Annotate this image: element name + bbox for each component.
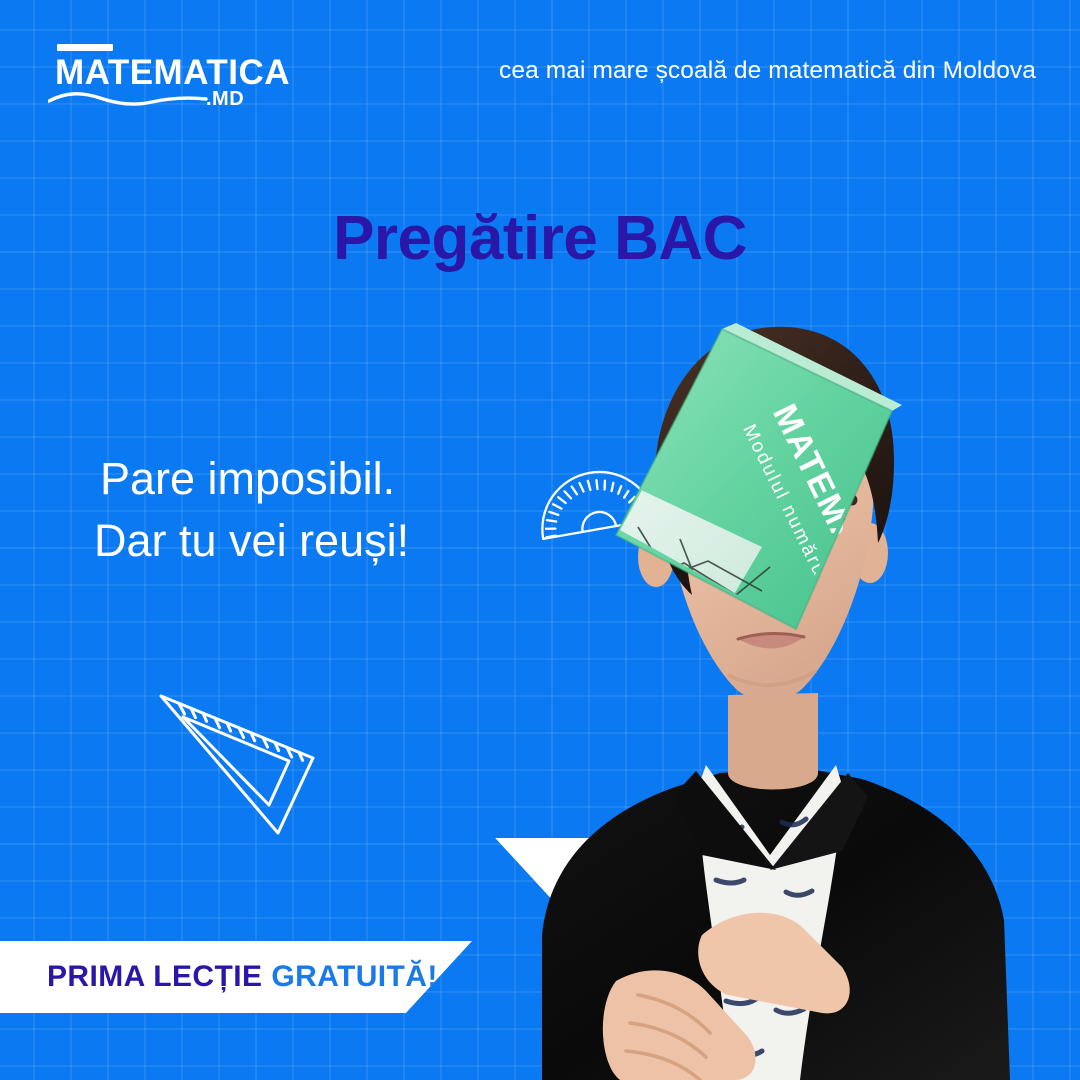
page-title: Pregătire BAC — [0, 203, 1080, 274]
slogan-line-2: Dar tu vei reuși! — [94, 510, 409, 572]
promo-poster: MATEMATICA .MD cea mai mare școală de ma… — [0, 0, 1080, 1080]
cta-banner-text: PRIMA LECȚIEGRATUITĂ! — [47, 960, 438, 994]
cta-banner[interactable]: PRIMA LECȚIEGRATUITĂ! — [0, 941, 472, 1013]
brand-logo[interactable]: MATEMATICA .MD — [48, 44, 258, 116]
logo-tld: .MD — [206, 88, 244, 111]
brand-tagline: cea mai mare școală de matematică din Mo… — [499, 57, 1036, 85]
cta-text-primary: PRIMA LECȚIE — [47, 960, 262, 993]
teacher-portrait: MATEMATICĂ Modulul numărului — [470, 295, 1080, 1080]
cta-text-accent: GRATUITĂ! — [271, 960, 437, 993]
slogan-block: Pare imposibil. Dar tu vei reuși! — [100, 448, 409, 572]
logo-wave-icon — [48, 90, 210, 108]
logo-wordmark: MATEMATICA — [55, 55, 290, 90]
slogan-line-1: Pare imposibil. — [100, 453, 395, 504]
neck — [728, 693, 818, 790]
logo-top-bar — [57, 44, 113, 51]
headline-text: Pregătire BAC — [333, 203, 747, 274]
set-square-icon — [150, 678, 325, 843]
